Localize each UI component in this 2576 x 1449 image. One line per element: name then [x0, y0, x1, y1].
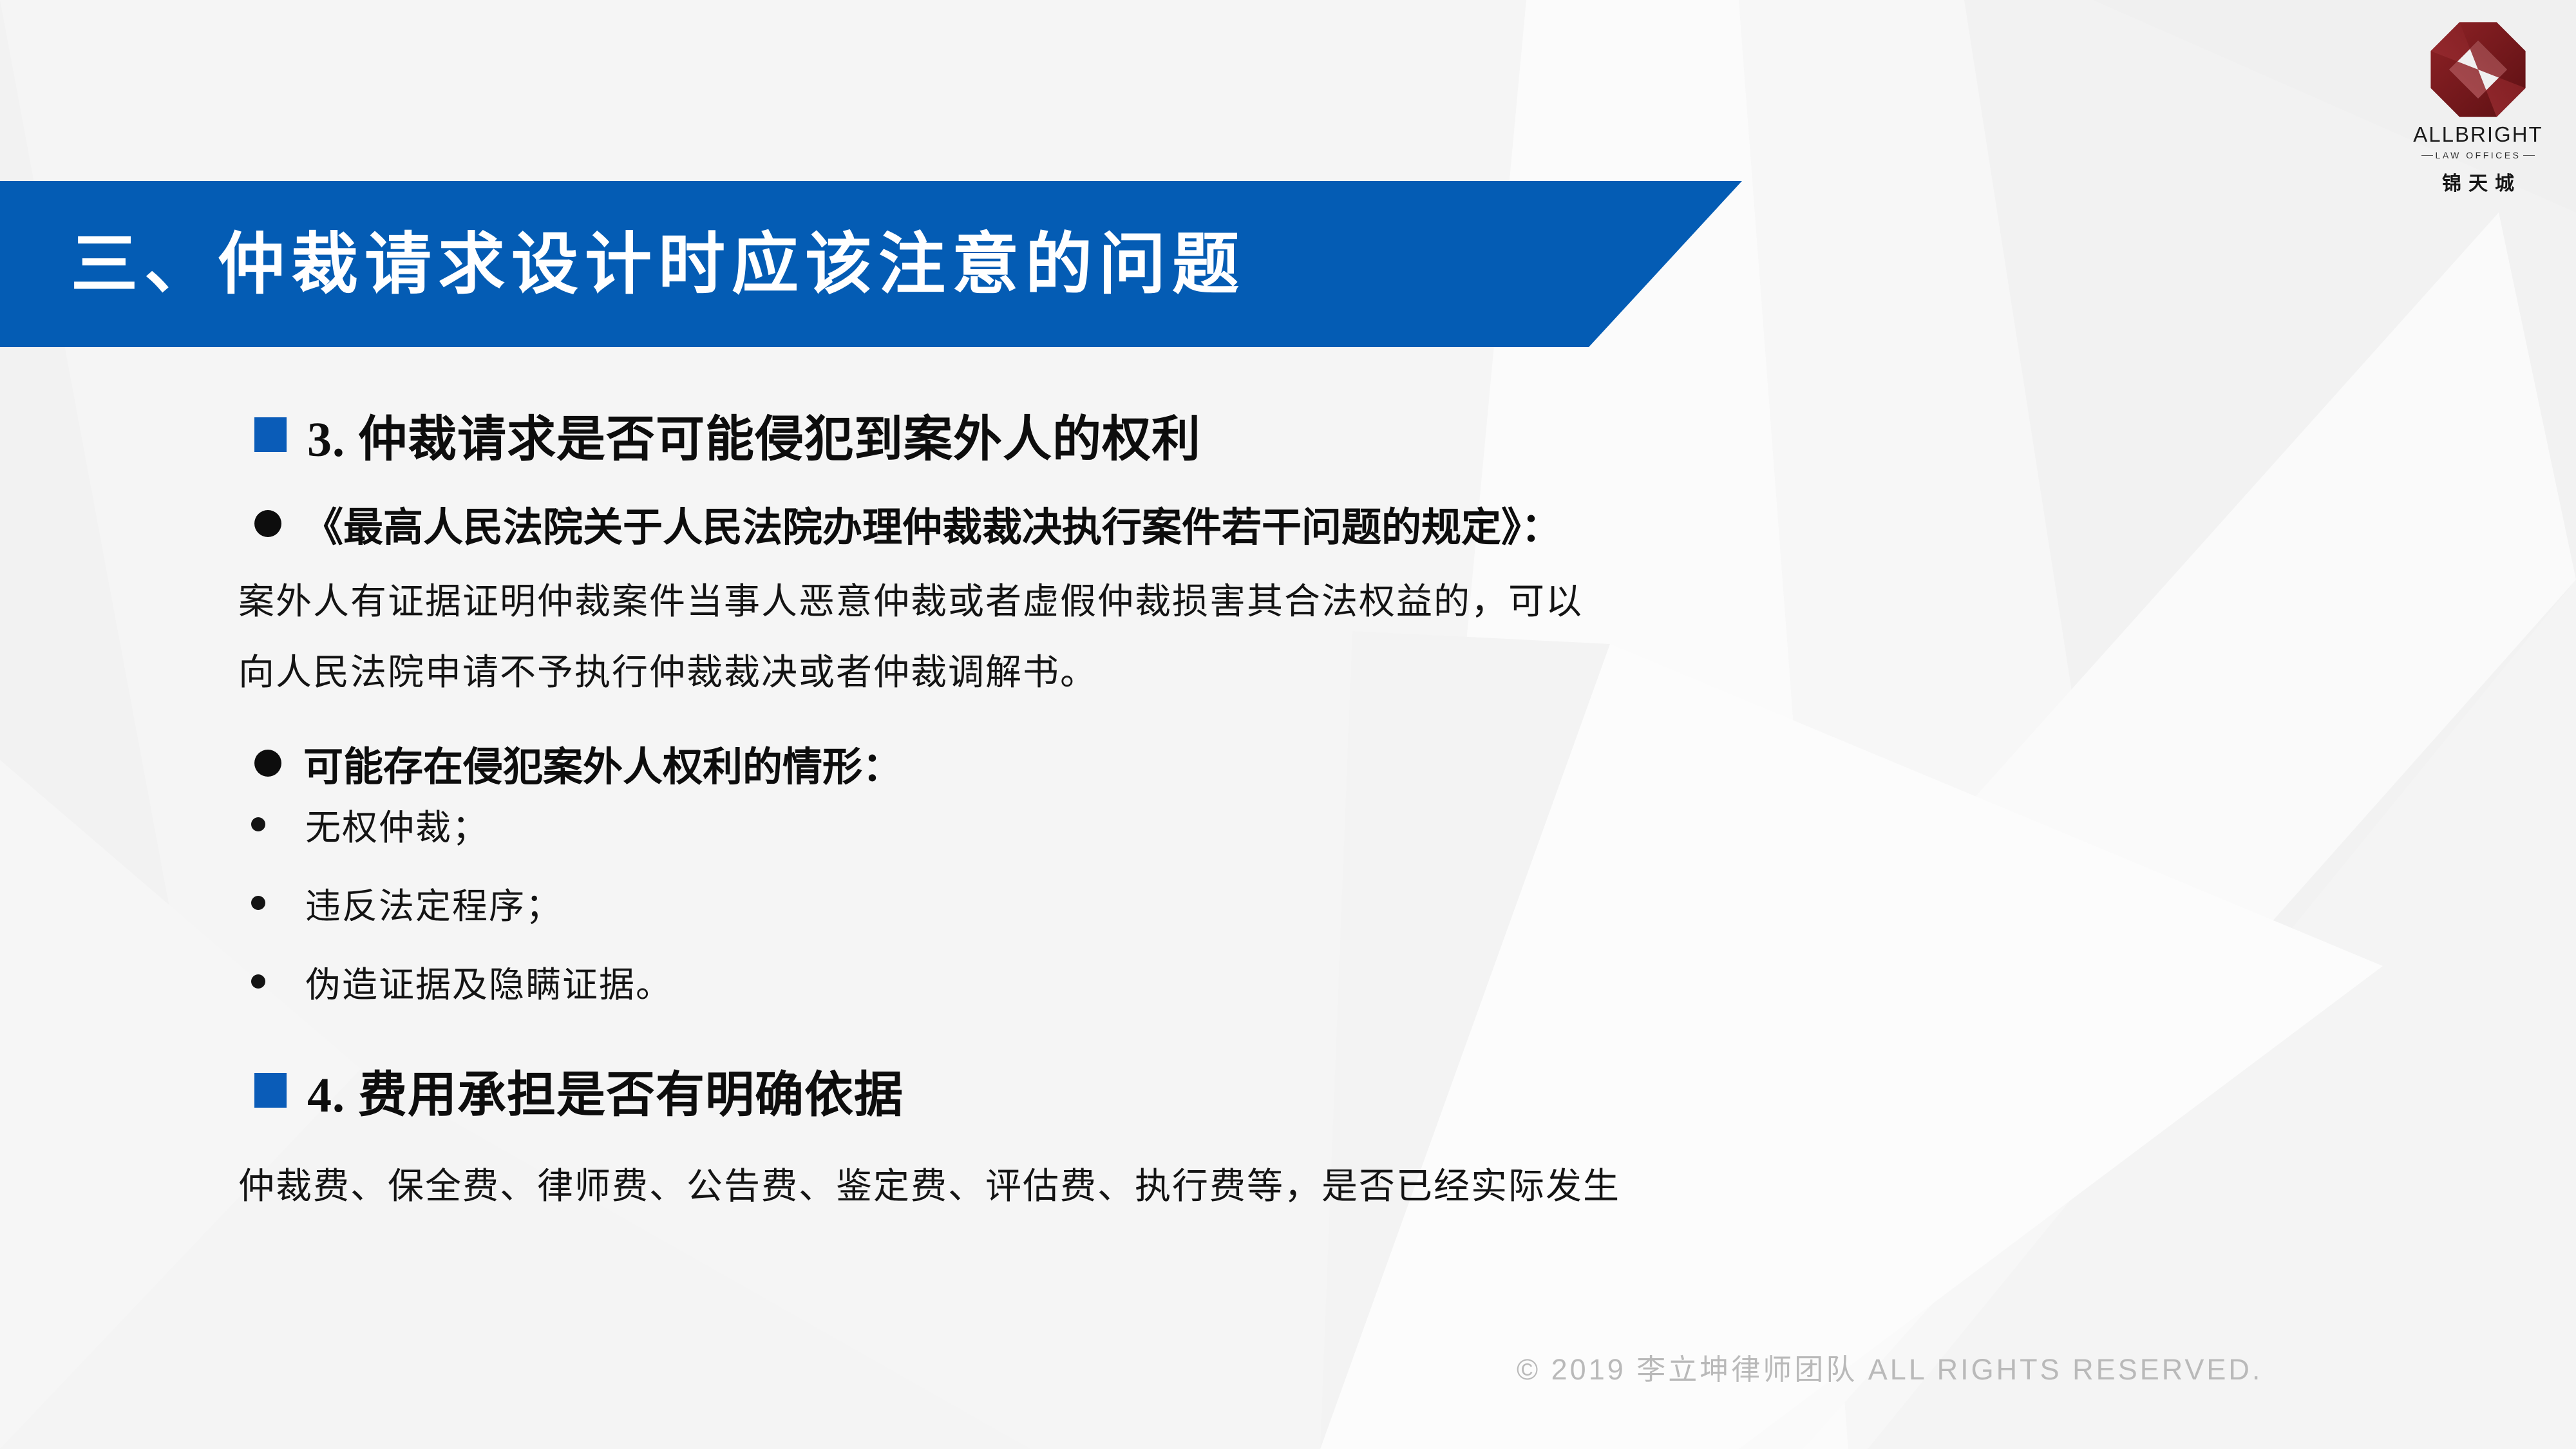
regulation-citation: 《最高人民法院关于人民法院办理仲裁裁决执行案件若干问题的规定》：: [254, 495, 1561, 553]
section-heading-3: 3. 仲裁请求是否可能侵犯到案外人的权利: [254, 399, 1201, 470]
slide-body: 3. 仲裁请求是否可能侵犯到案外人的权利 《最高人民法院关于人民法院办理仲裁裁决…: [0, 0, 2576, 1449]
infringement-scenarios-lead: 可能存在侵犯案外人权利的情形：: [254, 734, 902, 792]
list-item: 违反法定程序；: [251, 877, 562, 929]
small-bullet-icon: [251, 974, 265, 989]
regulation-paragraph: 案外人有证据证明仲裁案件当事人恶意仲裁或者虚假仲裁损害其合法权益的，可以 向人民…: [238, 567, 1583, 708]
list-item: 伪造证据及隐瞒证据。: [251, 956, 672, 1007]
section-heading-3-label: 3. 仲裁请求是否可能侵犯到案外人的权利: [307, 399, 1201, 470]
list-item-label: 伪造证据及隐瞒证据。: [305, 956, 672, 1007]
presentation-slide: 三、仲裁请求设计时应该注意的问题 ALLBRIGHT LAW OFFICES 锦…: [0, 0, 2576, 1449]
small-bullet-icon: [251, 817, 265, 831]
round-bullet-icon: [254, 510, 281, 537]
regulation-citation-label: 《最高人民法院关于人民法院办理仲裁裁决执行案件若干问题的规定》：: [303, 495, 1561, 553]
small-bullet-icon: [251, 896, 265, 910]
copyright-footer: © 2019 李立坤律师团队 ALL RIGHTS RESERVED.: [1517, 1346, 2262, 1388]
section-heading-4: 4. 费用承担是否有明确依据: [254, 1055, 904, 1126]
list-item-label: 违反法定程序；: [305, 877, 562, 929]
fees-paragraph: 仲裁费、保全费、律师费、公告费、鉴定费、评估费、执行费等，是否已经实际发生: [238, 1151, 1620, 1222]
list-item-label: 无权仲裁；: [305, 799, 489, 850]
section-heading-4-label: 4. 费用承担是否有明确依据: [307, 1055, 904, 1126]
square-bullet-icon: [254, 417, 287, 452]
round-bullet-icon: [254, 750, 281, 777]
square-bullet-icon: [254, 1073, 287, 1108]
infringement-scenarios-label: 可能存在侵犯案外人权利的情形：: [303, 734, 902, 792]
list-item: 无权仲裁；: [251, 799, 489, 850]
